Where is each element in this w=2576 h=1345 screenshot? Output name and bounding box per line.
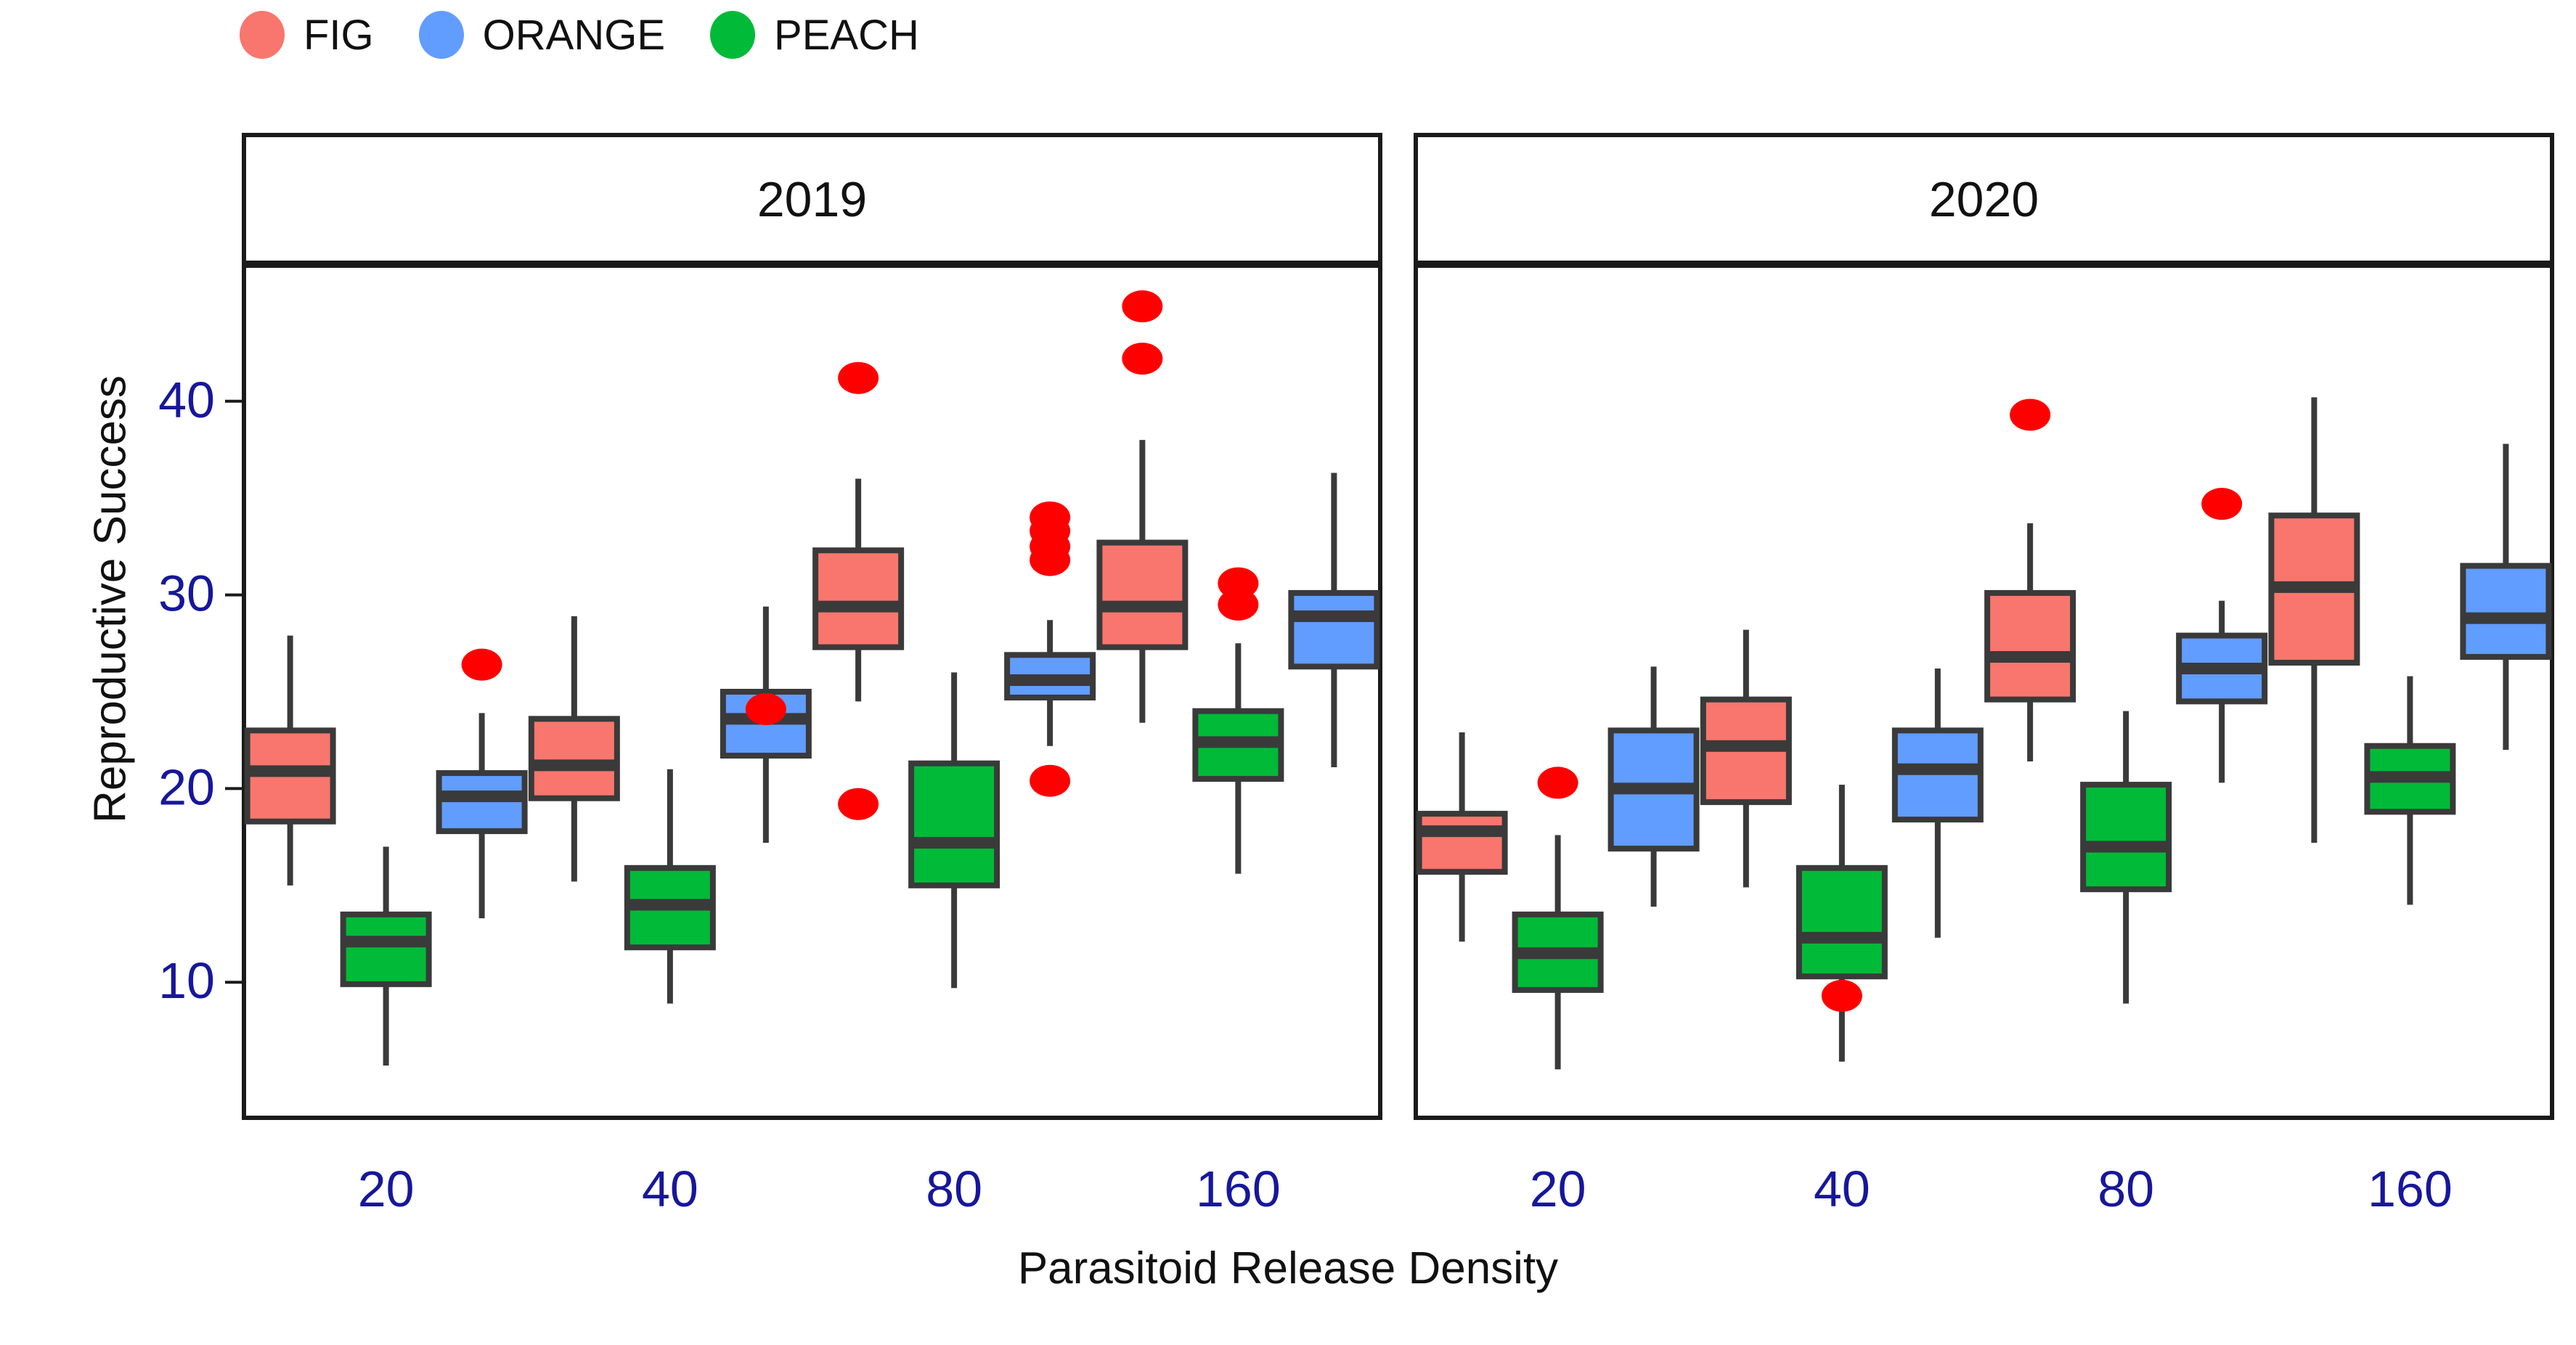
box-body	[2083, 785, 2169, 889]
outlier-point	[462, 649, 502, 681]
boxplot-2020-160-orange	[2463, 443, 2548, 750]
outlier-point	[1822, 980, 1862, 1012]
box-body	[1895, 730, 1981, 819]
x-axis-tick-label: 160	[1196, 1161, 1281, 1217]
boxplot-2019-40-orange	[723, 607, 809, 843]
outlier-point	[1122, 290, 1162, 322]
box-body	[815, 550, 901, 647]
y-axis-tick-label: 30	[158, 565, 215, 622]
x-axis-tick-label: 160	[2368, 1161, 2453, 1217]
boxplot-2020-80-peach	[2083, 711, 2169, 1004]
boxplot-2019-20-fig	[248, 636, 333, 886]
boxplot-2020-40-orange	[1895, 669, 1981, 938]
x-axis-tick-label: 40	[1814, 1161, 1870, 1217]
outlier-point	[2201, 488, 2242, 520]
box-body	[1987, 593, 2073, 700]
box-body	[1291, 593, 1377, 666]
boxplot-2019-20-orange	[439, 649, 525, 919]
facet-strip-label: 2019	[757, 172, 867, 227]
y-axis-tick-label: 20	[158, 759, 215, 815]
outlier-point	[2010, 398, 2050, 430]
box-body	[1419, 814, 1505, 872]
box-body	[439, 773, 525, 831]
box-body	[531, 719, 617, 798]
box-body	[911, 764, 997, 886]
boxplot-2019-80-orange	[1007, 502, 1093, 797]
box-body	[2463, 566, 2548, 657]
boxplot-2020-40-peach	[1799, 785, 1885, 1062]
outlier-point	[1538, 766, 1578, 798]
panel-border-2019	[244, 266, 1380, 1118]
outlier-point	[838, 362, 879, 394]
outlier-point	[838, 788, 879, 820]
outlier-point	[1030, 544, 1070, 576]
boxplot-svg: 1020304020192040801602020204080160	[0, 0, 2576, 1345]
outlier-point	[1218, 589, 1258, 621]
boxplot-2019-40-fig	[531, 616, 617, 882]
x-axis-tick-label: 20	[358, 1161, 415, 1217]
outlier-point	[1122, 343, 1162, 375]
box-body	[1799, 868, 1885, 976]
x-axis-tick-label: 40	[642, 1161, 698, 1217]
boxplot-2020-20-orange	[1611, 666, 1697, 907]
x-axis-tick-label: 80	[2098, 1161, 2154, 1217]
boxplot-2020-40-fig	[1703, 630, 1789, 888]
figure-root: FIGORANGEPEACH Reproductive Success Para…	[0, 0, 2576, 1345]
x-axis-tick-label: 80	[926, 1161, 982, 1217]
outlier-point	[1030, 765, 1070, 797]
boxplot-2020-160-fig	[2271, 397, 2357, 843]
boxplot-2019-160-orange	[1291, 473, 1377, 767]
boxplot-2020-20-fig	[1419, 732, 1505, 941]
boxplot-2019-160-peach	[1195, 568, 1281, 874]
boxplot-2020-20-peach	[1515, 766, 1601, 1069]
boxplot-2020-160-peach	[2367, 676, 2453, 905]
boxplot-2020-80-orange	[2179, 488, 2265, 782]
y-axis-tick-label: 40	[158, 372, 215, 428]
boxplot-2019-40-peach	[627, 769, 713, 1004]
x-axis-tick-label: 20	[1530, 1161, 1586, 1217]
boxplot-2019-20-peach	[343, 846, 429, 1066]
facet-strip-label: 2020	[1929, 172, 2039, 227]
boxplot-2019-80-fig	[815, 362, 901, 820]
y-axis-tick-label: 10	[158, 952, 215, 1009]
boxplot-2020-80-fig	[1987, 398, 2073, 761]
box-body	[1099, 543, 1185, 647]
outlier-point	[746, 693, 786, 725]
boxplot-2019-80-peach	[911, 672, 997, 988]
boxplot-2019-160-fig	[1099, 290, 1185, 723]
box-body	[343, 915, 429, 984]
